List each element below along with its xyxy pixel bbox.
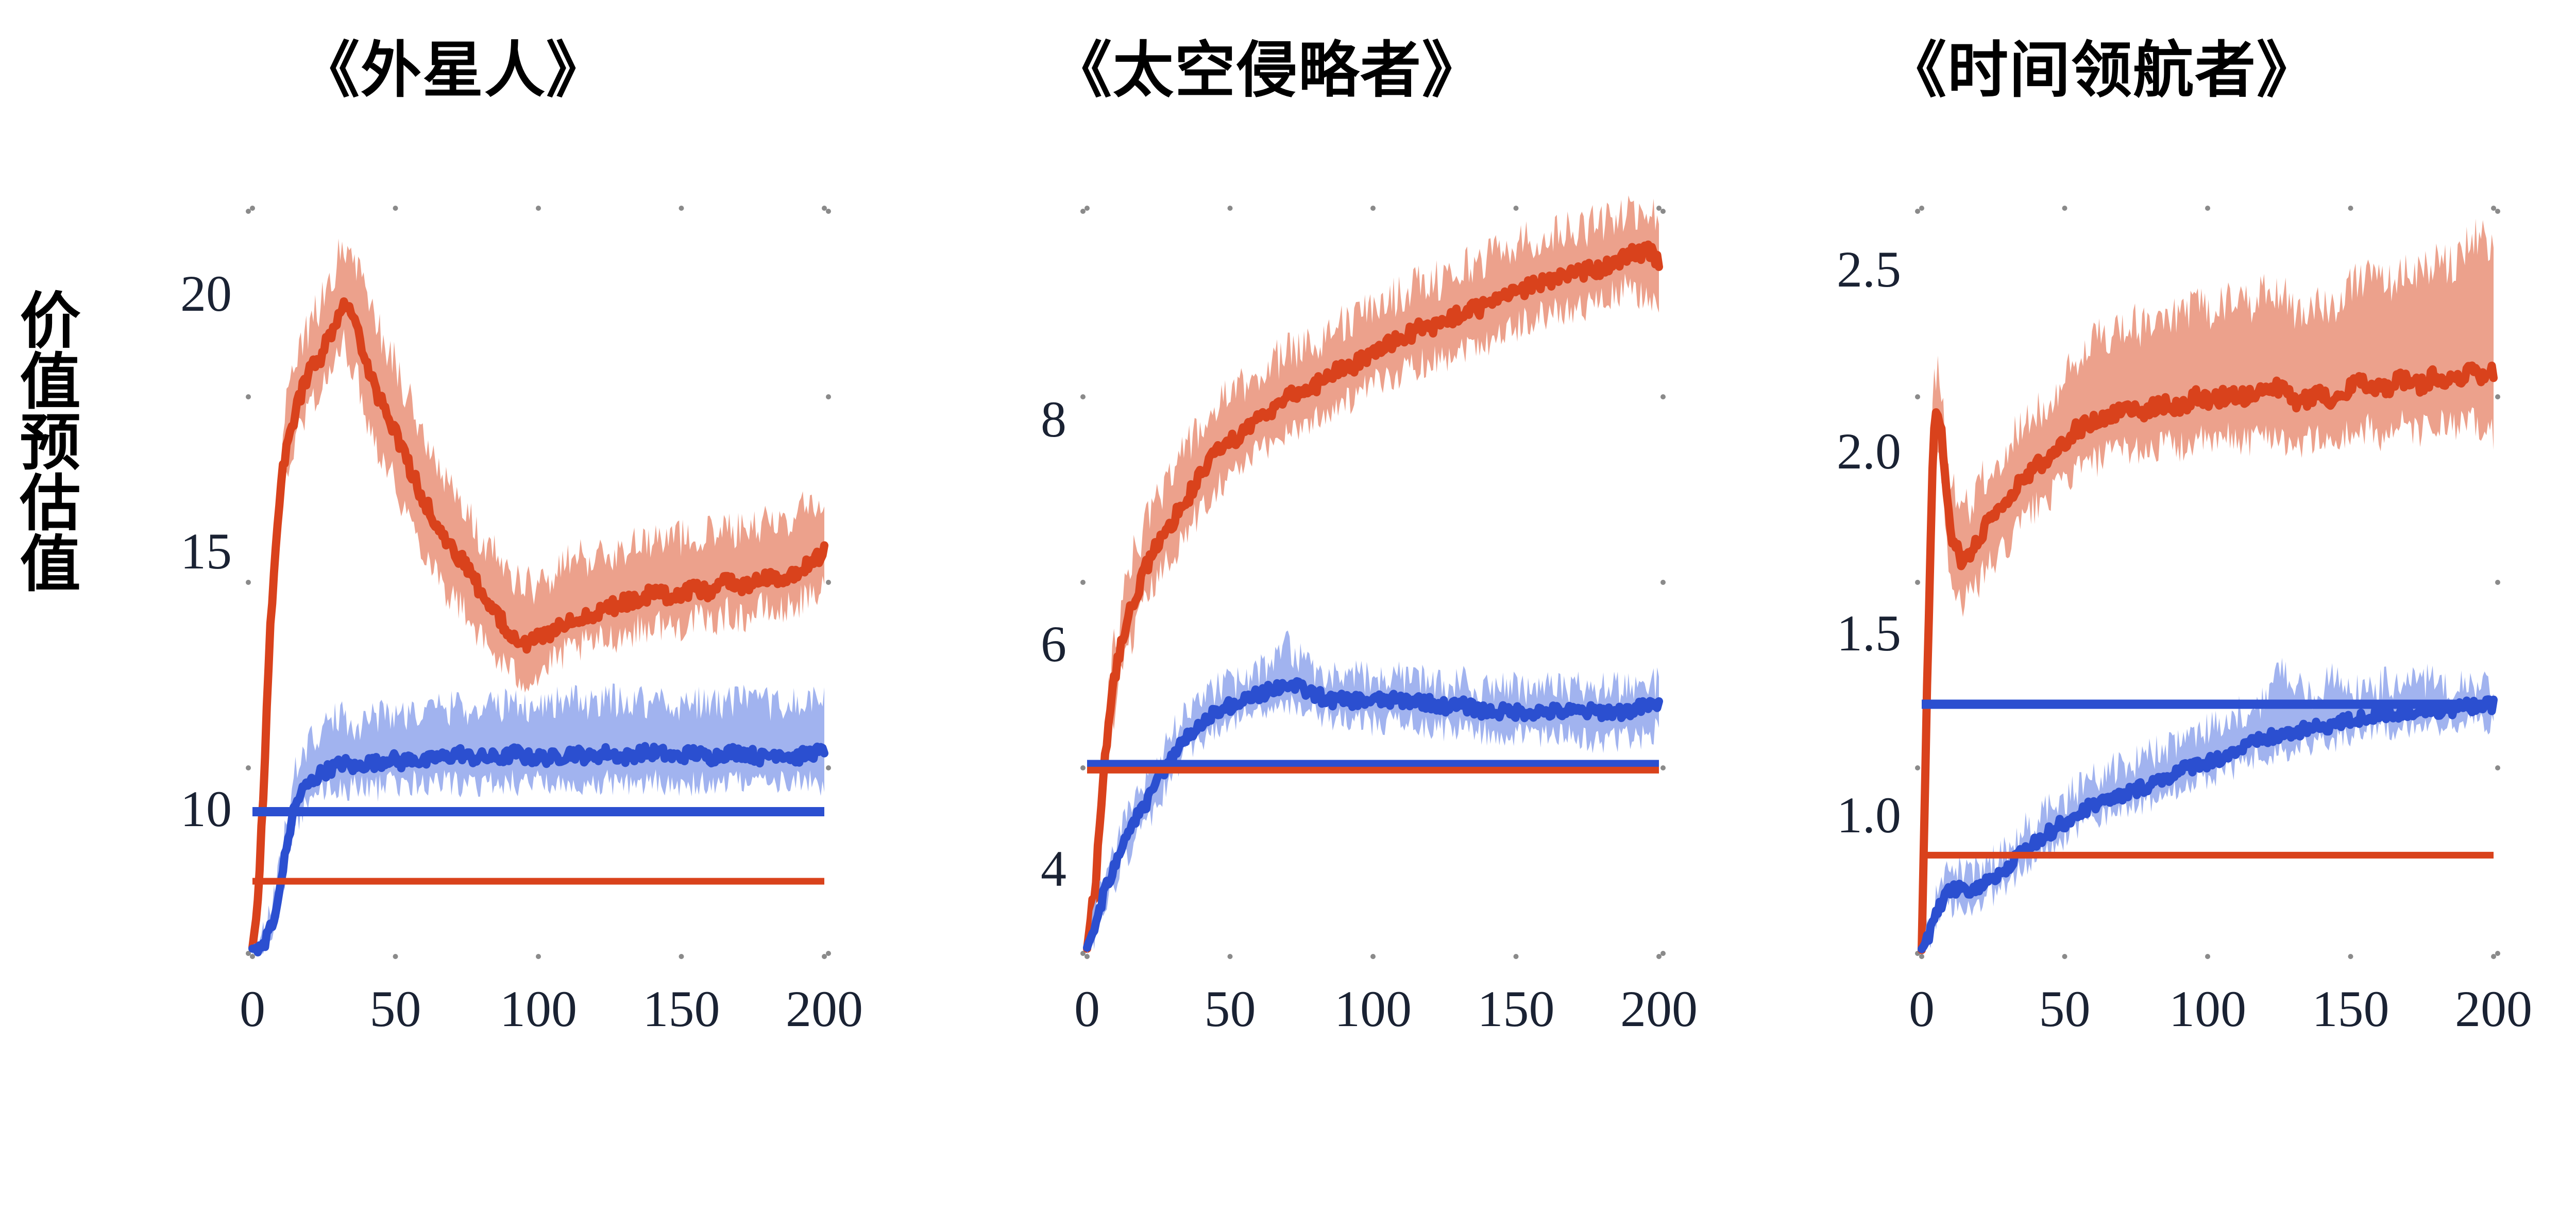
- band-dqn: [252, 239, 824, 953]
- band-ddqn: [252, 683, 824, 954]
- y-tick-label: 2.5: [1772, 240, 1901, 299]
- y-tick-label: 2.0: [1772, 422, 1901, 481]
- x-tick-label: 0: [185, 979, 319, 1038]
- band-dqn: [1087, 195, 1659, 953]
- y-tick-label: 1.5: [1772, 603, 1901, 663]
- y-tick-label: 4: [938, 839, 1066, 898]
- panel-plot-2: [1915, 206, 2500, 959]
- x-tick-label: 100: [1306, 979, 1440, 1038]
- band-ddqn: [1087, 631, 1659, 954]
- x-tick-label: 50: [1163, 979, 1297, 1038]
- band-dqn: [1922, 219, 2494, 953]
- figure-root: 价值预估值 《外星人》 《太空侵略者》 《时间领航者》 《扎克松》 迭代轮次（百…: [0, 0, 2576, 1225]
- line-dqn: [1087, 245, 1659, 949]
- x-tick-label: 150: [2284, 979, 2418, 1038]
- x-tick-label: 100: [2141, 979, 2275, 1038]
- y-tick-label: 15: [103, 522, 232, 581]
- x-tick-label: 0: [1855, 979, 1989, 1038]
- x-tick-label: 150: [1449, 979, 1583, 1038]
- y-tick-label: 10: [103, 779, 232, 838]
- panel-plot-0: [246, 206, 831, 959]
- panel-plot-1: [1080, 195, 1666, 959]
- x-tick-label: 100: [471, 979, 605, 1038]
- x-tick-label: 50: [329, 979, 463, 1038]
- x-tick-label: 150: [615, 979, 749, 1038]
- x-tick-label: 0: [1020, 979, 1154, 1038]
- x-tick-label: 200: [2427, 979, 2561, 1038]
- x-tick-label: 200: [1592, 979, 1726, 1038]
- plot-surface: [0, 0, 2576, 1225]
- y-tick-label: 1.0: [1772, 785, 1901, 845]
- x-tick-label: 50: [1998, 979, 2132, 1038]
- x-tick-label: 200: [757, 979, 891, 1038]
- y-tick-label: 8: [938, 390, 1066, 449]
- y-tick-label: 20: [103, 264, 232, 323]
- y-tick-label: 6: [938, 614, 1066, 674]
